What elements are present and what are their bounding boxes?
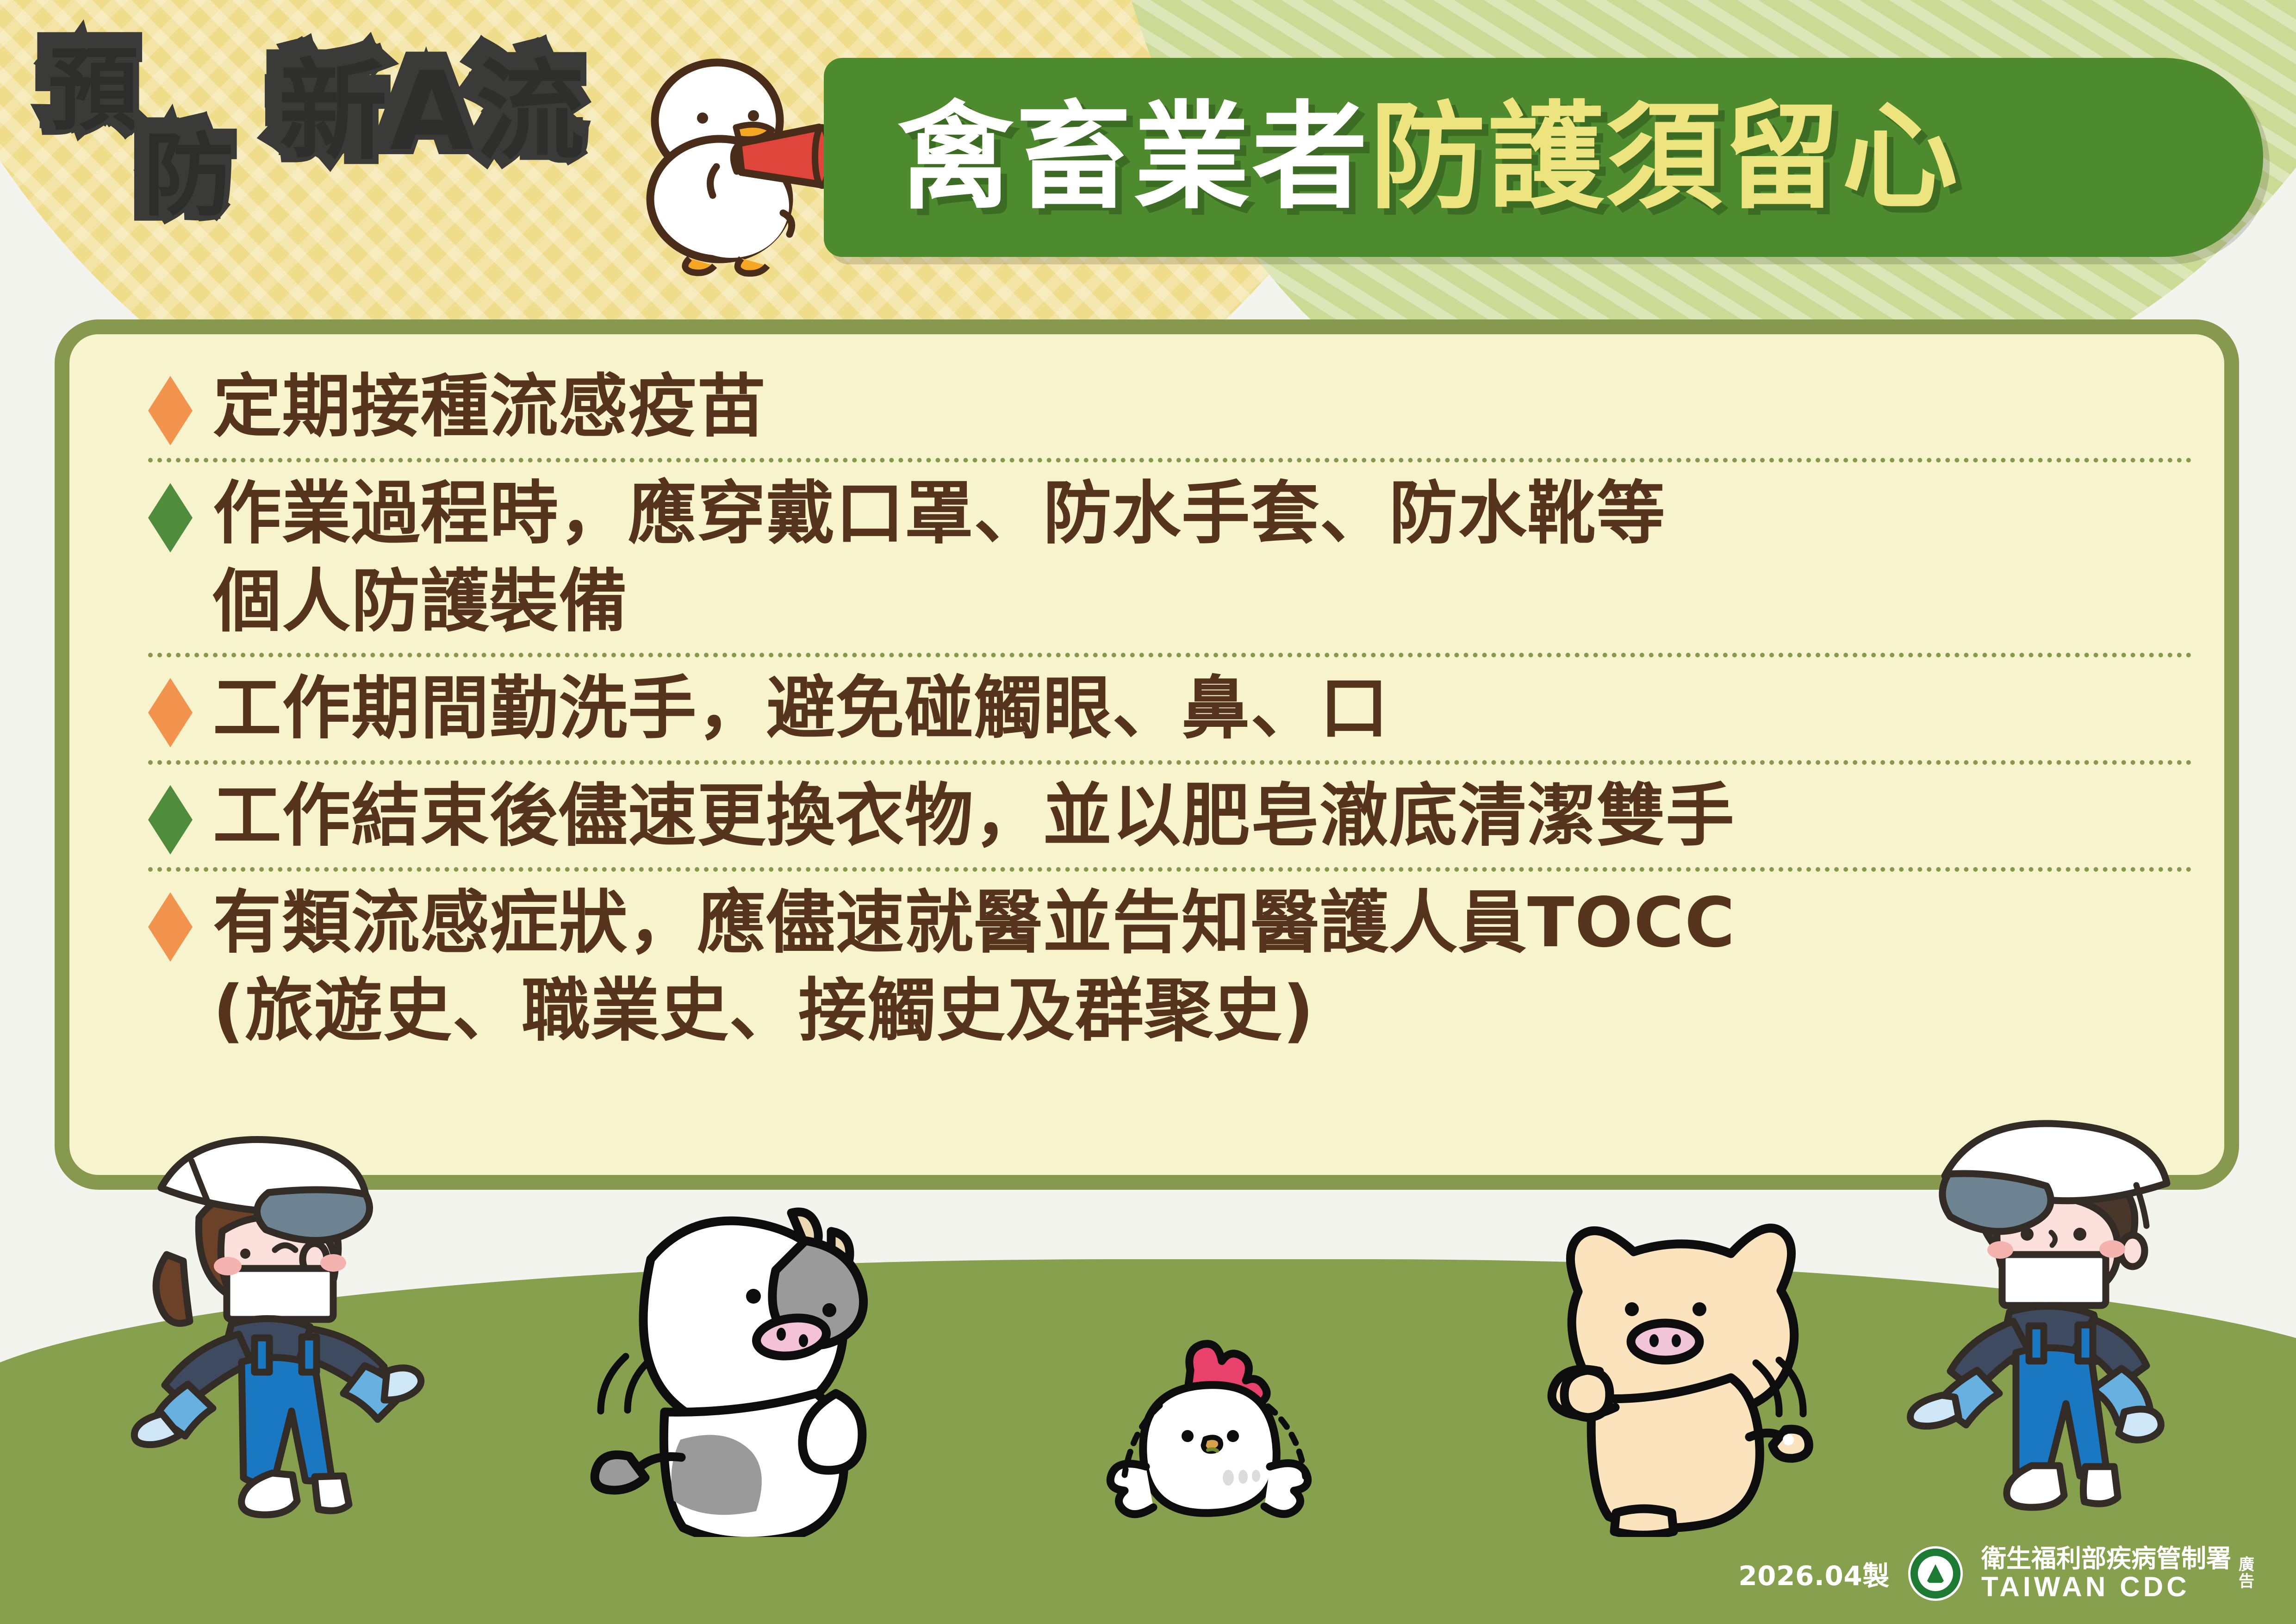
list-item-text: 作業過程時，應穿戴口罩、防水手套、防水靴等 個人防護裝備 <box>213 470 1666 645</box>
header-banner-yellow: 防護須留心 <box>1370 90 1960 225</box>
agency-name-cn: 衛生福利部疾病管制署 <box>1981 1546 2231 1571</box>
guidelines-list: 定期接種流感疫苗 作業過程時，應穿戴口罩、防水手套、防水靴等 個人防護裝備 工作… <box>148 356 2192 1062</box>
diamond-bullet-icon <box>148 483 193 552</box>
list-item: 工作結束後儘速更換衣物，並以肥皂澈底清潔雙手 <box>148 760 2192 867</box>
diamond-bullet-icon <box>148 785 193 855</box>
list-item: 工作期間勤洗手，避免碰觸眼、鼻、口 <box>148 653 2192 760</box>
diamond-bullet-icon <box>148 892 193 962</box>
made-date: 2026.04製 <box>1738 1554 1890 1593</box>
list-item-line: 工作期間勤洗手，避免碰觸眼、鼻、口 <box>213 665 1389 752</box>
diamond-bullet-icon <box>148 376 193 445</box>
footer: 2026.04製 衛生福利部疾病管制署 TAIWAN CDC 廣 告 <box>1738 1546 2254 1601</box>
cdc-wordmark-lines: 衛生福利部疾病管制署 TAIWAN CDC <box>1981 1546 2231 1601</box>
list-item-line: 個人防護裝備 <box>213 558 1666 645</box>
ad-label: 廣 告 <box>2239 1557 2254 1590</box>
list-item: 有類流感症狀，應儘速就醫並告知醫護人員TOCC (旅遊史、職業史、接觸史及群聚史… <box>148 867 2192 1062</box>
ad-label-line1: 廣 <box>2239 1557 2254 1574</box>
cdc-logo-icon <box>1908 1546 1963 1601</box>
ad-label-line2: 告 <box>2239 1574 2254 1590</box>
title-topic: 新A流 <box>273 51 581 160</box>
title-badge-line2: 防 <box>139 125 231 215</box>
poster-root: 預 防 新A流 <box>0 0 2296 1624</box>
agency-name-en: TAIWAN CDC <box>1981 1573 2231 1601</box>
cdc-wordmark: 衛生福利部疾病管制署 TAIWAN CDC 廣 告 <box>1981 1546 2254 1601</box>
list-item-line: 有類流感症狀，應儘速就醫並告知醫護人員TOCC <box>213 879 1736 967</box>
title-badge: 預 防 新A流 <box>28 25 639 248</box>
list-item-line: 工作結束後儘速更換衣物，並以肥皂澈底清潔雙手 <box>213 772 1735 860</box>
header-banner: 禽畜業者防護須留心 <box>824 58 2263 257</box>
list-item-text: 有類流感症狀，應儘速就醫並告知醫護人員TOCC (旅遊史、職業史、接觸史及群聚史… <box>213 879 1736 1055</box>
guidelines-card: 定期接種流感疫苗 作業過程時，應穿戴口罩、防水手套、防水靴等 個人防護裝備 工作… <box>55 319 2239 1190</box>
list-item-text: 工作結束後儘速更換衣物，並以肥皂澈底清潔雙手 <box>213 772 1735 860</box>
list-item: 作業過程時，應穿戴口罩、防水手套、防水靴等 個人防護裝備 <box>148 458 2192 653</box>
title-badge-line1: 預 <box>44 39 136 130</box>
list-item-text: 工作期間勤洗手，避免碰觸眼、鼻、口 <box>213 665 1389 752</box>
list-item-line: 作業過程時，應穿戴口罩、防水手套、防水靴等 <box>213 470 1666 557</box>
diamond-bullet-icon <box>148 678 193 747</box>
header-banner-white: 禽畜業者 <box>898 90 1370 225</box>
list-item-line: (旅遊史、職業史、接觸史及群聚史) <box>213 967 1736 1055</box>
list-item-text: 定期接種流感疫苗 <box>213 363 766 450</box>
header: 預 防 新A流 <box>0 0 2296 296</box>
header-banner-title: 禽畜業者防護須留心 <box>898 100 1960 215</box>
list-item: 定期接種流感疫苗 <box>148 356 2192 458</box>
list-item-line: 定期接種流感疫苗 <box>213 363 766 450</box>
